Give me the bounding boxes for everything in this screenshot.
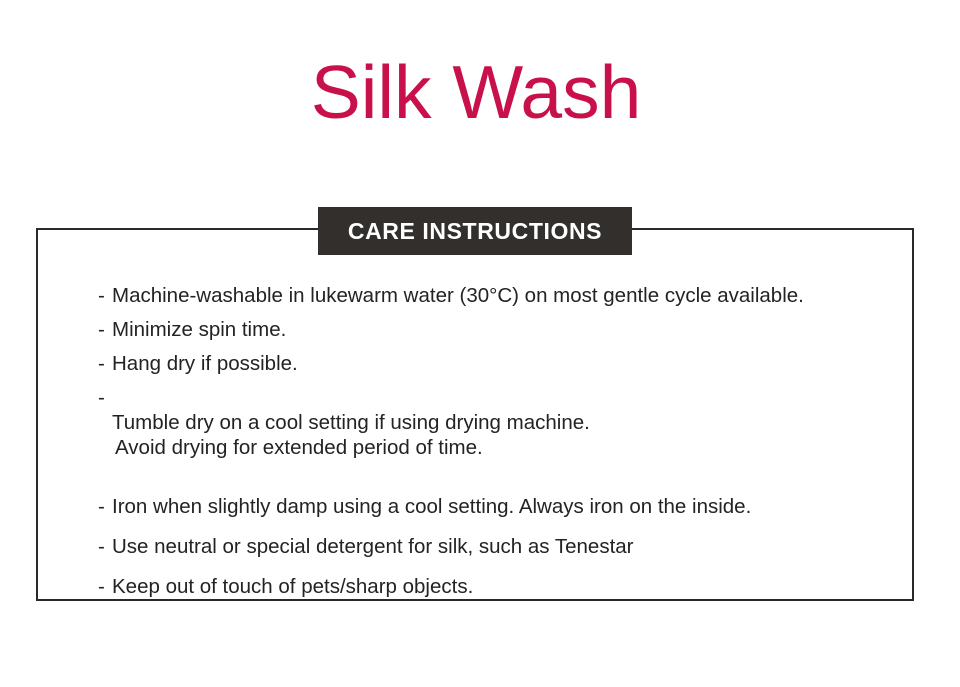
list-item-text: Tumble dry on a cool setting if using dr… [112, 385, 888, 485]
instructions-list: - Machine-washable in lukewarm water (30… [98, 283, 888, 609]
list-item-text: Keep out of touch of pets/sharp objects. [112, 574, 888, 599]
list-item-text-line-1: Tumble dry on a cool setting if using dr… [112, 411, 590, 434]
list-item: - Use neutral or special detergent for s… [98, 534, 888, 559]
list-item: - Machine-washable in lukewarm water (30… [98, 283, 888, 308]
list-bullet: - [98, 283, 112, 308]
list-bullet: - [98, 574, 112, 599]
list-item-text: Hang dry if possible. [112, 351, 888, 376]
list-bullet: - [98, 494, 112, 519]
list-item-text: Use neutral or special detergent for sil… [112, 534, 888, 559]
list-item-text: Minimize spin time. [112, 317, 888, 342]
care-instructions-badge-label: CARE INSTRUCTIONS [348, 218, 602, 245]
list-item: - Iron when slightly damp using a cool s… [98, 494, 888, 519]
page-title: Silk Wash [0, 47, 952, 137]
list-bullet: - [98, 534, 112, 559]
list-item: - Tumble dry on a cool setting if using … [98, 385, 888, 485]
list-bullet: - [98, 385, 112, 410]
care-label-page: Silk Wash CARE INSTRUCTIONS - Machine-wa… [0, 0, 960, 687]
list-item-text: Machine-washable in lukewarm water (30°C… [112, 283, 888, 308]
list-item-text: Iron when slightly damp using a cool set… [112, 494, 888, 519]
list-item: - Hang dry if possible. [98, 351, 888, 376]
list-bullet: - [98, 317, 112, 342]
list-item: - Minimize spin time. [98, 317, 888, 342]
list-bullet: - [98, 351, 112, 376]
list-item: - Keep out of touch of pets/sharp object… [98, 574, 888, 599]
care-instructions-badge: CARE INSTRUCTIONS [318, 207, 632, 255]
list-item-text-line-2: Avoid drying for extended period of time… [112, 435, 888, 460]
